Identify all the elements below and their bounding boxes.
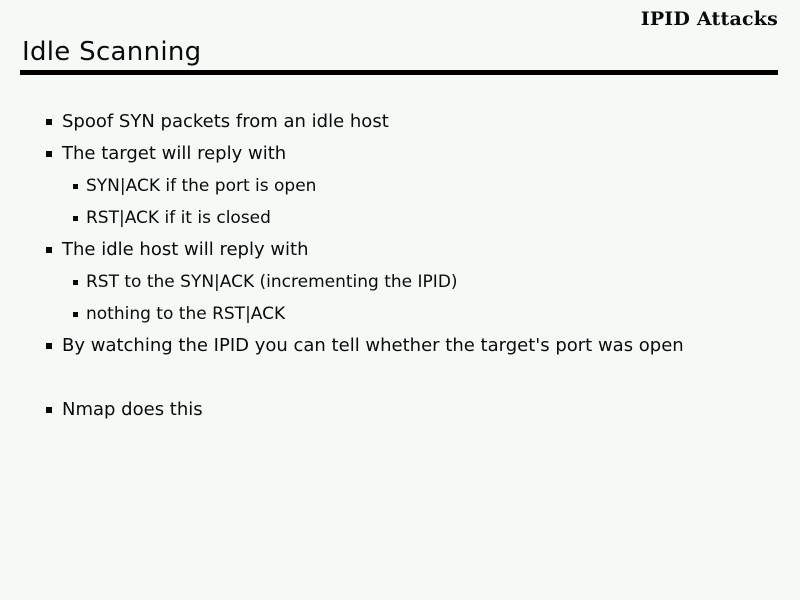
- list-item: SYN|ACK if the port is open: [0, 170, 800, 202]
- list-item-label: RST to the SYN|ACK (incrementing the IPI…: [86, 272, 458, 292]
- list-item: By watching the IPID you can tell whethe…: [0, 330, 800, 362]
- list-item: nothing to the RST|ACK: [0, 298, 800, 330]
- list-item-label: SYN|ACK if the port is open: [86, 176, 316, 196]
- sub-bullet-marker-icon: [73, 280, 78, 285]
- sub-bullet-marker-icon: [73, 216, 78, 221]
- running-header: IPID Attacks: [641, 8, 778, 30]
- bullet-marker-icon: [46, 343, 52, 349]
- bullet-marker-icon: [46, 119, 52, 125]
- bullet-spacer: [0, 362, 800, 394]
- list-item: RST|ACK if it is closed: [0, 202, 800, 234]
- title-divider: [20, 70, 778, 75]
- list-item-label: The target will reply with: [62, 143, 286, 164]
- list-item: The target will reply with: [0, 138, 800, 170]
- bullet-list: Spoof SYN packets from an idle hostThe t…: [0, 106, 800, 426]
- list-item: Spoof SYN packets from an idle host: [0, 106, 800, 138]
- sub-bullet-marker-icon: [73, 184, 78, 189]
- list-item-label: RST|ACK if it is closed: [86, 208, 271, 228]
- slide: IPID Attacks Idle Scanning Spoof SYN pac…: [0, 0, 800, 600]
- list-item-label: By watching the IPID you can tell whethe…: [62, 335, 684, 356]
- list-item-label: The idle host will reply with: [62, 239, 309, 260]
- bullet-marker-icon: [46, 247, 52, 253]
- list-item-label: Nmap does this: [62, 399, 203, 420]
- list-item-label: nothing to the RST|ACK: [86, 304, 285, 324]
- bullet-marker-icon: [46, 151, 52, 157]
- list-item: Nmap does this: [0, 394, 800, 426]
- bullet-marker-icon: [46, 407, 52, 413]
- sub-bullet-marker-icon: [73, 312, 78, 317]
- list-item: RST to the SYN|ACK (incrementing the IPI…: [0, 266, 800, 298]
- page-title: Idle Scanning: [22, 37, 201, 67]
- list-item: The idle host will reply with: [0, 234, 800, 266]
- list-item-label: Spoof SYN packets from an idle host: [62, 111, 389, 132]
